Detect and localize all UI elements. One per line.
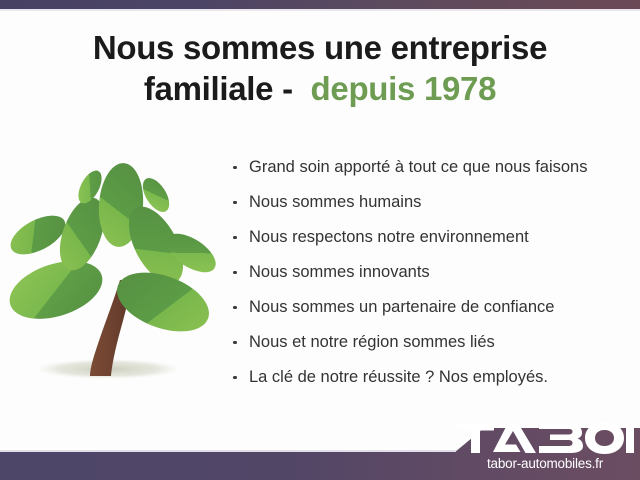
headline-line-1: Nous sommes une entreprise xyxy=(0,27,640,68)
list-item: La clé de notre réussite ? Nos employés. xyxy=(232,360,632,395)
top-bar-hairline xyxy=(0,9,640,11)
headline-line-2: familiale - depuis 1978 xyxy=(0,68,640,109)
list-item-label: Nous sommes innovants xyxy=(249,263,430,281)
list-item-label: La clé de notre réussite ? Nos employés. xyxy=(249,368,548,386)
top-accent-bar xyxy=(0,0,640,9)
tabor-wordmark-icon xyxy=(456,421,634,455)
list-item: Nous et notre région sommes liés xyxy=(232,325,632,360)
bullet-dot-icon xyxy=(233,306,237,310)
list-item-label: Nous sommes humains xyxy=(249,193,421,211)
headline-accent-year: depuis 1978 xyxy=(311,70,497,107)
footer-band: tabor-automobiles.fr xyxy=(0,400,640,480)
tree-icon xyxy=(8,150,220,388)
list-item: Grand soin apporté à tout ce que nous fa… xyxy=(232,150,632,185)
list-item: Nous sommes un partenaire de confiance xyxy=(232,290,632,325)
list-item: Nous sommes humains xyxy=(232,185,632,220)
slide-canvas: Nous sommes une entreprise familiale - d… xyxy=(0,0,640,480)
footer-hairline xyxy=(0,450,456,452)
tree-graphic xyxy=(8,150,220,388)
list-item-label: Nous respectons notre environnement xyxy=(249,228,529,246)
bullet-dot-icon xyxy=(233,236,237,240)
page-title: Nous sommes une entreprise familiale - d… xyxy=(0,27,640,109)
logo-tagline: tabor-automobiles.fr xyxy=(456,456,634,472)
bullet-dot-icon xyxy=(233,271,237,275)
bullet-dot-icon xyxy=(233,166,237,170)
headline-familiale: familiale xyxy=(144,70,273,107)
bullet-dot-icon xyxy=(233,201,237,205)
list-item-label: Nous et notre région sommes liés xyxy=(249,333,495,351)
list-item-label: Nous sommes un partenaire de confiance xyxy=(249,298,554,316)
list-item-label: Grand soin apporté à tout ce que nous fa… xyxy=(249,158,587,176)
bullet-dot-icon xyxy=(233,341,237,345)
bullet-dot-icon xyxy=(233,376,237,380)
list-item: Nous respectons notre environnement xyxy=(232,220,632,255)
benefits-list: Grand soin apporté à tout ce que nous fa… xyxy=(232,150,632,395)
brand-logo[interactable]: tabor-automobiles.fr xyxy=(456,421,634,472)
headline-dash: - xyxy=(282,70,293,107)
list-item: Nous sommes innovants xyxy=(232,255,632,290)
